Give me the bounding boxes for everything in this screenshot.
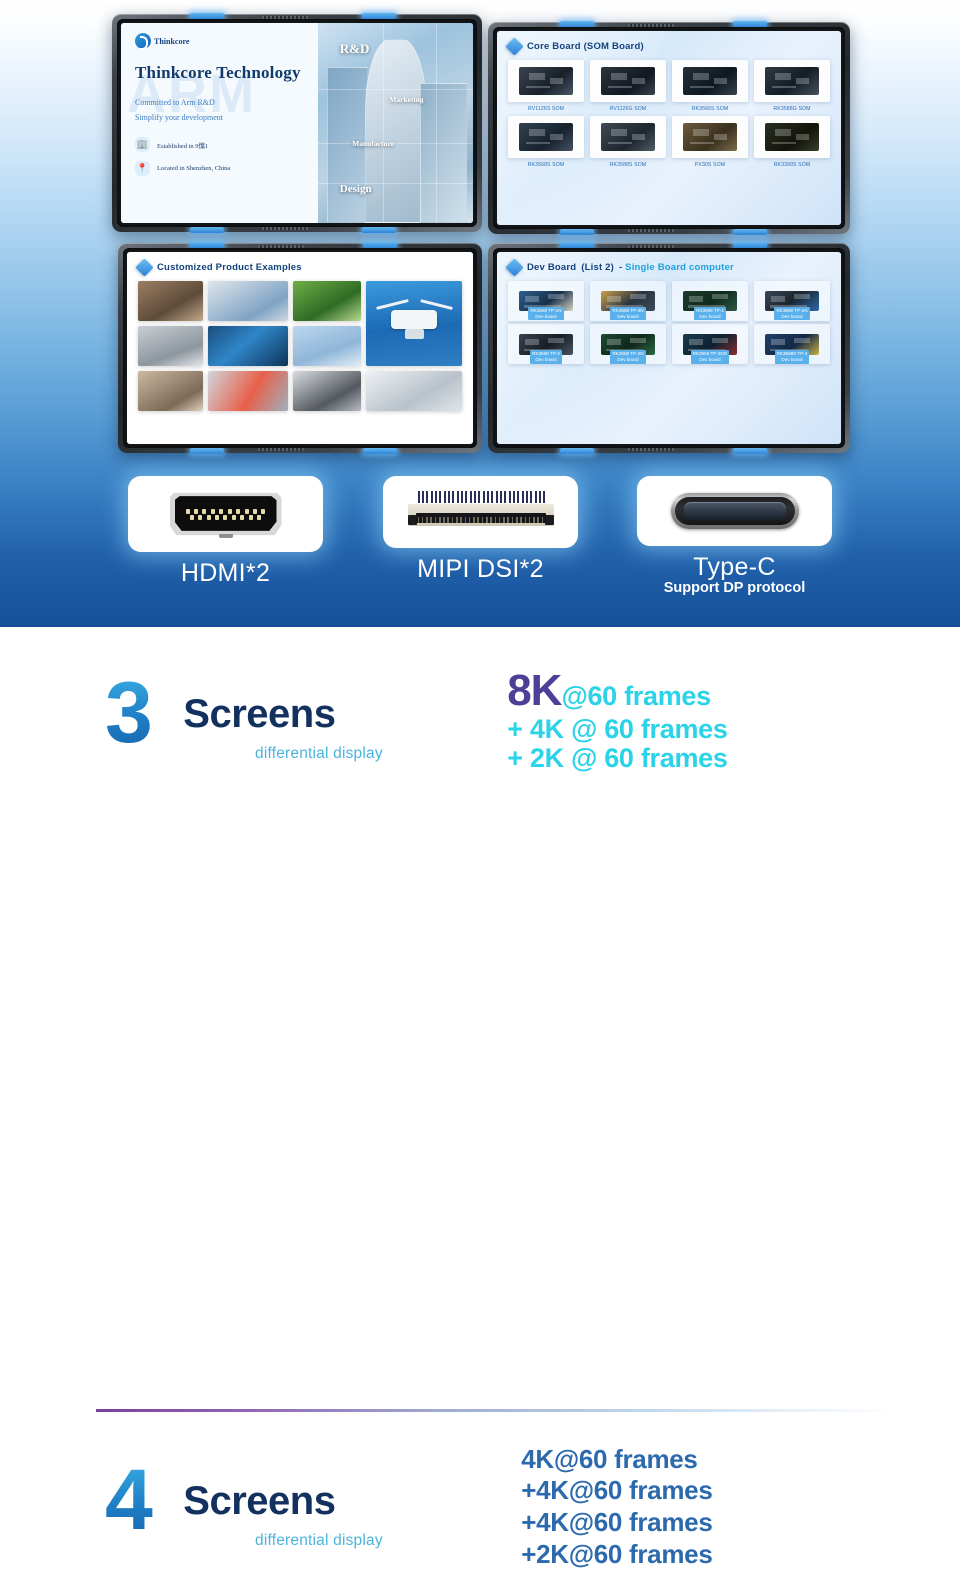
hdmi-port-icon: [170, 491, 282, 537]
diamond-bullet-icon: [135, 258, 153, 276]
slide-subline-2: Simplify your development: [135, 110, 310, 125]
core-board-item[interactable]: RK3588S SOM: [590, 116, 666, 168]
spec-note-differential: differential display: [255, 745, 499, 763]
photo-cctv-camera: [293, 326, 361, 366]
photo-face-recognition: [208, 371, 288, 411]
monitor-bezel: Dev Board (List 2) - Single Board comput…: [488, 243, 850, 453]
typec-label: Type-C: [637, 553, 832, 582]
screen-content-dev: Dev Board (List 2) - Single Board comput…: [497, 252, 841, 444]
dev-board-caption: RK3568 TP-1NDev board: [528, 307, 563, 320]
monitor-bezel: Core Board (SOM Board) RV1126S SOMRV1126…: [488, 22, 850, 234]
building-icon: 🏢: [135, 137, 150, 152]
core-board-caption: RK3399S SOM: [774, 162, 811, 168]
dev-board-item[interactable]: RK3568 TP-2NDev board: [590, 324, 666, 363]
core-board-item[interactable]: RV1126G SOM: [590, 60, 666, 112]
spec-note-differential: differential display: [255, 1532, 499, 1550]
core-board-photo: [672, 116, 748, 158]
screen-content-core: Core Board (SOM Board) RV1126S SOMRV1126…: [497, 31, 841, 225]
bezel-vent-icon: [262, 227, 308, 230]
spec-row-3-screens: 3 Screens differential display 8K@60 fra…: [0, 655, 960, 785]
quadrant-label-marketing: Marketing: [389, 95, 423, 104]
core-board-photo: [672, 60, 748, 102]
photo-meeting: [138, 371, 203, 411]
location-pin-icon: 📍: [135, 161, 150, 176]
spec-count-4: 4: [105, 1464, 153, 1537]
slide-subline-1: Committed to Arm R&D: [135, 95, 310, 110]
spec-count-3: 3: [105, 677, 153, 750]
screen-content-title: ARM Thinkcore Thinkcore Technology Commi…: [121, 23, 473, 223]
core-board-item[interactable]: RK3568S SOM: [508, 116, 584, 168]
example-photo-grid: [138, 281, 462, 411]
diamond-bullet-icon: [505, 37, 523, 55]
quadrant-label-design: Design: [340, 183, 372, 195]
slide-title-dev-accent: Single Board computer: [625, 262, 734, 273]
bezel-clip-icon: [733, 229, 767, 235]
monitor-bezel: ARM Thinkcore Thinkcore Technology Commi…: [112, 14, 482, 232]
dev-board-caption: RK3588S TP-4Dev board: [775, 350, 810, 363]
dev-board-item[interactable]: RK3568 TP-2Dev board: [508, 324, 584, 363]
spec-8k-rate: @60 frames: [561, 681, 710, 711]
core-board-item[interactable]: RK3566S SOM: [672, 60, 748, 112]
thinkcore-logo: Thinkcore: [135, 33, 310, 49]
core-board-photo: [590, 60, 666, 102]
spec-word-screens: Screens: [183, 1479, 335, 1524]
core-board-caption: RK3566S SOM: [692, 106, 729, 112]
core-board-item[interactable]: RV1126S SOM: [508, 60, 584, 112]
slide-headline: Thinkcore Technology: [135, 63, 310, 83]
mipi-dsi-connector-icon: [406, 489, 556, 535]
spec-section: 3 Screens differential display 8K@60 fra…: [0, 627, 960, 960]
core-board-caption: RV1126G SOM: [610, 106, 647, 112]
building-photo: R&D Marketing Manufacture Design: [318, 23, 473, 223]
monitor-product-examples: Customized Product Examples: [118, 243, 482, 453]
connector-mipi: MIPI DSI*2: [383, 476, 578, 584]
photo-drone: [366, 281, 462, 366]
dev-board-item[interactable]: RK3568 TP-2NGDev board: [672, 324, 748, 363]
dev-board-item[interactable]: RK3588S TP-4Dev board: [754, 324, 830, 363]
spec-8k-value: 8K: [507, 666, 561, 715]
core-board-grid: RV1126S SOMRV1126G SOMRK3566S SOMRK3588G…: [508, 60, 830, 168]
dev-board-caption: RK3566 TP-1NDev board: [774, 307, 809, 320]
core-board-photo: [590, 116, 666, 158]
spec-line-4k-1: 4K@60 frames: [521, 1444, 960, 1476]
core-board-photo: [508, 116, 584, 158]
photo-robots: [366, 371, 462, 411]
core-board-item[interactable]: RK3588G SOM: [754, 60, 830, 112]
typec-card: [637, 476, 832, 546]
bezel-clip-icon: [560, 448, 594, 454]
slide-title-core: Core Board (SOM Board): [527, 41, 644, 52]
fact-location: 📍 Located in Shenzhen, China: [135, 161, 310, 176]
bezel-clip-icon: [190, 448, 224, 454]
core-board-caption: RV1126S SOM: [528, 106, 564, 112]
bezel-vent-icon: [628, 448, 674, 451]
slide-title-examples: Customized Product Examples: [157, 262, 302, 273]
photo-pos-terminal: [293, 371, 361, 411]
usb-type-c-port-icon: [671, 493, 799, 529]
photo-control-room: [208, 326, 288, 366]
bezel-clip-icon: [362, 227, 396, 233]
connector-row: HDMI*2: [0, 470, 960, 620]
photo-lawn-mower: [293, 281, 361, 321]
core-board-item[interactable]: RK3399S SOM: [754, 116, 830, 168]
spec-word-screens: Screens: [183, 692, 335, 737]
mipi-card: [383, 476, 578, 548]
hero-banner: ARM Thinkcore Thinkcore Technology Commi…: [0, 0, 960, 627]
bezel-clip-icon: [733, 448, 767, 454]
photo-turnstile: [138, 326, 203, 366]
spec-line-4k-2: +4K@60 frames: [521, 1475, 960, 1507]
dev-board-item[interactable]: RK3566 TP-1Dev board: [672, 281, 748, 320]
screen-content-examples: Customized Product Examples: [127, 252, 473, 444]
photo-kiosk: [138, 281, 203, 321]
core-board-photo: [508, 60, 584, 102]
spec-line-4k-3: +4K@60 frames: [521, 1507, 960, 1539]
dev-board-caption: RK3568 TP-3NDev board: [610, 307, 645, 320]
spec-line-4k: + 4K @ 60 frames: [507, 715, 960, 744]
bezel-clip-icon: [363, 448, 397, 454]
dev-board-item[interactable]: RK3568 TP-1NDev board: [508, 281, 584, 320]
dev-board-caption: RK3568 TP-2NGDev board: [691, 350, 730, 363]
quadrant-label-rd: R&D: [340, 41, 370, 57]
photo-tablet: [208, 281, 288, 321]
core-board-photo: [754, 60, 830, 102]
dev-board-item[interactable]: RK3568 TP-3NDev board: [590, 281, 666, 320]
fact-text: Located in Shenzhen, China: [157, 165, 230, 172]
bezel-clip-icon: [190, 227, 224, 233]
mipi-label: MIPI DSI*2: [383, 555, 578, 584]
spec-line-2k: +2K@60 frames: [521, 1539, 960, 1571]
bezel-vent-icon: [258, 448, 304, 451]
dev-board-caption: RK3568 TP-2Dev board: [530, 350, 562, 363]
fact-text: Established in 9戃1: [157, 140, 208, 150]
core-board-caption: RK3568S SOM: [528, 162, 565, 168]
core-board-caption: RK3588S SOM: [610, 162, 647, 168]
monitor-bezel: Customized Product Examples: [118, 243, 482, 453]
spec-divider: [96, 1409, 896, 1412]
monitor-dev-boards: Dev Board (List 2) - Single Board comput…: [488, 243, 850, 453]
hdmi-label: HDMI*2: [128, 559, 323, 588]
slide-title-dev: Dev Board (List 2) -: [527, 262, 622, 273]
core-board-caption: RK3588G SOM: [773, 106, 810, 112]
monitor-title-slide: ARM Thinkcore Thinkcore Technology Commi…: [112, 14, 482, 232]
dev-board-grid: RK3568 TP-1NDev boardRK3568 TP-3NDev boa…: [508, 281, 830, 364]
dev-board-item[interactable]: RK3566 TP-1NDev board: [754, 281, 830, 320]
core-board-caption: PX30S SOM: [695, 162, 725, 168]
core-board-photo: [754, 116, 830, 158]
thinkcore-mark-icon: [135, 33, 151, 49]
connector-typec: Type-C Support DP protocol: [637, 476, 832, 596]
bezel-vent-icon: [628, 229, 674, 232]
core-board-item[interactable]: PX30S SOM: [672, 116, 748, 168]
typec-sublabel: Support DP protocol: [637, 580, 832, 596]
spec-row-4-screens: 4 Screens differential display 4K@60 fra…: [0, 1432, 960, 1582]
monitor-core-boards: Core Board (SOM Board) RV1126S SOMRV1126…: [488, 22, 850, 234]
spec-line-2k: + 2K @ 60 frames: [507, 744, 960, 773]
thinkcore-logo-text: Thinkcore: [154, 37, 189, 46]
bezel-clip-icon: [560, 229, 594, 235]
quadrant-label-manufacture: Manufacture: [352, 139, 394, 148]
connector-hdmi: HDMI*2: [128, 476, 323, 588]
dev-board-caption: RK3566 TP-1Dev board: [694, 307, 726, 320]
hdmi-card: [128, 476, 323, 552]
spec-line-8k: 8K@60 frames: [507, 667, 960, 715]
fact-established: 🏢 Established in 9戃1: [135, 137, 310, 152]
dev-board-caption: RK3568 TP-2NDev board: [610, 350, 645, 363]
diamond-bullet-icon: [505, 258, 523, 276]
